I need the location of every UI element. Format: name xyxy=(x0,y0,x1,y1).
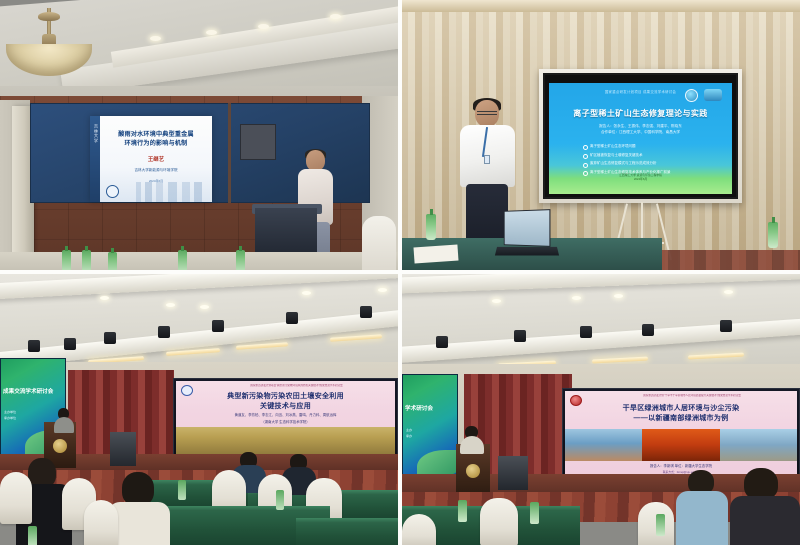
audience-member xyxy=(730,468,800,545)
audience-chair xyxy=(402,514,436,545)
laptop-screen xyxy=(504,209,551,247)
ceiling-downlight-icon xyxy=(166,303,175,307)
stage-spotlight-icon xyxy=(28,340,40,352)
stage-spotlight-icon xyxy=(64,338,76,350)
stage-spotlight-icon xyxy=(212,320,224,332)
line-array-speaker-icon xyxy=(514,330,526,342)
speaker-body xyxy=(460,436,484,454)
photo-panel-bottom-right: 学术研讨会 主办 承办 国家重点研发计划“干旱半干旱区城市人居环境质量提升关键技… xyxy=(402,274,800,545)
laptop-keyboard xyxy=(495,247,559,256)
slide-bullet-item: 矿区植被恢复与土壤修复关键技术 xyxy=(583,151,723,160)
speaker-at-podium xyxy=(460,426,484,452)
printed-papers xyxy=(413,244,458,263)
white-chair xyxy=(362,216,396,270)
slide-title: 酸雨对水环境中典型重金属 环境行为的影响与机制 xyxy=(104,131,208,148)
side-led-screen: 学术研讨会 主办 承办 xyxy=(402,374,458,488)
projector-screen-surface: 国家重点研发计划项目 成果交流学术研讨会 离子型稀土矿山生态修复理论与实践 报告… xyxy=(543,73,738,199)
line-array-speaker-icon xyxy=(720,320,732,332)
led-slide-title-line-1: 典型新污染物污染农田土壤安全利用 xyxy=(180,392,391,402)
city-panorama-photo xyxy=(720,429,797,461)
slide-side-bar: 吉林大学 xyxy=(90,116,100,202)
wheat-field-photograph xyxy=(176,427,395,455)
speaker-body xyxy=(54,417,74,433)
audience-table xyxy=(296,518,398,545)
panel-divider-horizontal xyxy=(0,270,800,274)
ceiling-downlight-icon xyxy=(492,299,501,303)
audience-head xyxy=(122,472,154,506)
water-bottle xyxy=(82,250,91,270)
ceiling-downlight-icon xyxy=(150,36,161,41)
audience-body xyxy=(730,496,800,545)
ceiling-downlight-icon xyxy=(100,296,109,300)
line-array-speaker-icon xyxy=(580,326,592,338)
dust-storm-red-sky-photo xyxy=(642,429,719,461)
ceiling-downlight-icon xyxy=(572,296,581,300)
slide-authors-line-2: 合作单位：江西理工大学、中国科学院、南昌大学 xyxy=(557,130,724,136)
slide-title-line-2: 环境行为的影响与机制 xyxy=(104,140,208,149)
ceiling-downlight-icon xyxy=(258,24,269,29)
slide-side-bar-text: 吉林大学 xyxy=(91,124,99,143)
led-slide-header: 国家重点研发计划项目“典型新污染物环境风险防控关键技术”成果交流学术研讨会 xyxy=(202,384,391,388)
city-skyline-illustration xyxy=(130,182,208,202)
institute-seal-icon xyxy=(685,89,698,102)
slide-bullet-list: 离子型稀土矿山生态环境问题 矿区植被恢复与土壤修复关键技术 废弃矿山生态修复模式… xyxy=(583,142,723,176)
led-slide-authors: 黄道友、李芳柏、李志江、向迅、刘冰燕、雷鸣、丹力科、周航远辉 xyxy=(182,413,389,418)
ceiling-downlight-icon xyxy=(302,291,311,295)
slide-footer-line-2: 2024年6月 xyxy=(549,177,732,181)
ceiling-downlight-icon xyxy=(200,305,209,309)
photo-panel-top-left: 吉林大学 酸雨对水环境中典型重金属 环境行为的影响与机制 王继艺 吉林大学新能源… xyxy=(0,0,398,270)
ceiling-downlight-icon xyxy=(614,294,623,298)
slide-authors: 报告人：张永生、王振伟、李志强、刘建平、陈晓东 合作单位：江西理工大学、中国科学… xyxy=(557,124,724,135)
led-slide-affiliation: （湖南大学 生态科学技术学院） xyxy=(182,420,389,425)
led-slide-title: 典型新污染物污染农田土壤安全利用 关键技术与应用 xyxy=(180,392,391,411)
chandelier-ceiling-cap xyxy=(38,12,60,21)
water-bottle xyxy=(530,502,539,524)
oasis-city-aerial-photo xyxy=(565,429,642,461)
water-bottle xyxy=(426,214,436,240)
water-bottle xyxy=(768,222,778,248)
slide-footer: 江西理工大学 资源与环境工程学院 2024年6月 xyxy=(549,173,732,181)
side-screen-lines: 主办 承办 xyxy=(406,427,412,439)
led-slide-title-line-2: ——以新疆南部绿洲城市为例 xyxy=(569,414,793,424)
photo-collage: 吉林大学 酸雨对水环境中典型重金属 环境行为的影响与机制 王继艺 吉林大学新能源… xyxy=(0,0,800,545)
water-bottle xyxy=(276,490,284,510)
photo-panel-top-right: 国家重点研发计划项目 成果交流学术研讨会 离子型稀土矿山生态修复理论与实践 报告… xyxy=(402,0,800,270)
presenter-head xyxy=(306,150,325,171)
ceiling-downlight-icon xyxy=(206,30,217,35)
led-slide-photo-strip xyxy=(565,429,797,461)
foreground-table xyxy=(0,252,398,270)
slide-bullet-item: 离子型稀土矿山生态环境问题 xyxy=(583,142,723,151)
projector-screen-frame: 国家重点研发计划项目 成果交流学术研讨会 离子型稀土矿山生态修复理论与实践 报告… xyxy=(539,69,742,203)
projected-slide-top-left: 吉林大学 酸雨对水环境中典型重金属 环境行为的影响与机制 王继艺 吉林大学新能源… xyxy=(90,116,212,202)
photo-panel-bottom-left: 成果交流学术研讨会 主办单位 承办单位 国家重点研发计划项目“典型新污染物环境风… xyxy=(0,274,398,545)
side-screen-line-1: 主办单位 xyxy=(4,409,16,415)
side-screen-lines: 主办单位 承办单位 xyxy=(4,409,16,421)
side-screen-line-2: 承办 xyxy=(406,433,412,439)
led-slide-title-line-1: 干旱区绿洲城市人居环境与沙尘污染 xyxy=(569,404,793,414)
table-runner xyxy=(296,518,398,523)
side-cabinet xyxy=(110,432,136,466)
ceiling-downlight-icon xyxy=(378,288,387,292)
ceiling-downlight-icon xyxy=(330,14,341,19)
board-seam xyxy=(228,103,231,203)
water-bottle xyxy=(108,252,117,270)
stage-spotlight-icon xyxy=(286,312,298,324)
water-bottle xyxy=(458,500,467,522)
main-led-wall: 国家重点研发计划“干旱半干旱区城市人居环境质量提升关键技术”成果交流学术研讨会 … xyxy=(562,388,800,478)
project-badge-icon xyxy=(704,89,722,101)
line-array-speaker-icon xyxy=(360,306,372,318)
water-bottle xyxy=(236,250,245,270)
name-badge xyxy=(484,155,490,164)
led-slide-content: 国家重点研发计划项目“典型新污染物环境风险防控关键技术”成果交流学术研讨会 典型… xyxy=(176,381,395,455)
side-screen-title: 学术研讨会 xyxy=(405,404,455,412)
side-screen-line-1: 主办 xyxy=(406,427,412,433)
line-array-speaker-icon xyxy=(436,336,448,348)
loudspeaker-icon xyxy=(240,124,276,160)
podium-emblem-icon xyxy=(53,439,67,453)
ceiling-downlight-icon xyxy=(724,290,733,294)
slide-affiliation: 吉林大学新能源与环境学院 xyxy=(104,168,208,173)
line-array-speaker-icon xyxy=(642,324,654,336)
projected-slide-top-right: 国家重点研发计划项目 成果交流学术研讨会 离子型稀土矿山生态修复理论与实践 报告… xyxy=(549,83,732,194)
led-slide-content: 国家重点研发计划“干旱半干旱区城市人居环境质量提升关键技术”成果交流学术研讨会 … xyxy=(565,391,797,475)
slide-bullet-item: 废弃矿山生态修复模式与工程示范成效分析 xyxy=(583,159,723,168)
led-slide-title-line-2: 关键技术与应用 xyxy=(180,402,391,412)
water-bottle xyxy=(178,250,187,270)
podium-emblem-icon xyxy=(466,464,480,478)
led-slide-title: 干旱区绿洲城市人居环境与沙尘污染 ——以新疆南部绿洲城市为例 xyxy=(569,404,793,423)
audience-chair xyxy=(84,500,118,545)
side-screen-line-2: 承办单位 xyxy=(4,415,16,421)
speaker-at-podium xyxy=(54,408,74,430)
side-cabinet xyxy=(498,456,528,490)
slide-author: 王继艺 xyxy=(104,155,208,163)
led-slide-header: 国家重点研发计划“干旱半干旱区城市人居环境质量提升关键技术”成果交流学术研讨会 xyxy=(591,394,793,398)
slide-title: 离子型稀土矿山生态修复理论与实践 xyxy=(553,108,728,119)
audience-member xyxy=(676,470,728,545)
audience-chair xyxy=(0,472,32,524)
main-led-wall: 国家重点研发计划项目“典型新污染物环境风险防控关键技术”成果交流学术研讨会 典型… xyxy=(173,378,398,458)
audience-chair xyxy=(480,498,518,545)
slide-title-line-1: 酸雨对水环境中典型重金属 xyxy=(104,131,208,140)
water-bottle xyxy=(656,514,665,536)
side-screen-title: 成果交流学术研讨会 xyxy=(3,387,63,395)
stage-spotlight-icon xyxy=(158,326,170,338)
water-bottle xyxy=(28,526,37,545)
curtain-rod xyxy=(402,0,800,12)
water-bottle xyxy=(178,480,186,500)
glasses-icon xyxy=(477,111,497,115)
stage-spotlight-icon xyxy=(104,332,116,344)
university-seal-icon xyxy=(106,185,119,198)
water-bottle xyxy=(62,250,71,270)
audience-body xyxy=(676,491,728,545)
